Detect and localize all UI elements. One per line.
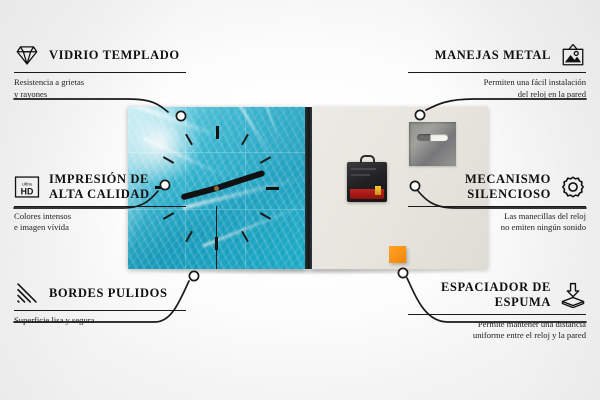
feature-title: VIDRIO TEMPLADO bbox=[49, 48, 180, 63]
feature-title: MECANISMO SILENCIOSO bbox=[408, 172, 551, 202]
divider bbox=[14, 206, 186, 207]
foam-spacer-icon bbox=[560, 282, 586, 308]
feature-desc: Permite mantener una distancia uniforme … bbox=[408, 319, 586, 342]
feature-manejas-metal: MANEJAS METAL Permiten una fácil instala… bbox=[408, 42, 586, 100]
picture-frame-icon bbox=[560, 42, 586, 68]
divider bbox=[408, 314, 586, 315]
gear-icon bbox=[560, 174, 586, 200]
feature-desc: Resistencia a grietas y rayones bbox=[14, 77, 186, 100]
feature-desc: Las manecillas del reloj no emiten ningú… bbox=[408, 211, 586, 234]
feature-vidrio-templado: VIDRIO TEMPLADO Resistencia a grietas y … bbox=[14, 42, 186, 100]
ultra-hd-icon: ultra HD bbox=[14, 174, 40, 200]
clock-edge bbox=[305, 107, 312, 269]
feature-title: MANEJAS METAL bbox=[435, 48, 551, 63]
polished-edges-icon bbox=[14, 280, 40, 306]
metal-hanger-plate bbox=[409, 122, 456, 166]
feature-title: BORDES PULIDOS bbox=[49, 286, 168, 301]
quartz-movement bbox=[347, 162, 387, 202]
feature-desc: Colores intensos e imagen vívida bbox=[14, 211, 186, 234]
feature-bordes-pulidos: BORDES PULIDOS Superficie lisa y segura bbox=[14, 280, 186, 327]
feature-desc: Superficie lisa y segura bbox=[14, 315, 186, 327]
divider bbox=[408, 206, 586, 207]
feature-impresion-alta-calidad: ultra HD IMPRESIÓN DE ALTA CALIDAD Color… bbox=[14, 172, 186, 234]
feature-title: IMPRESIÓN DE ALTA CALIDAD bbox=[49, 172, 186, 202]
svg-text:HD: HD bbox=[21, 186, 34, 196]
clock-second-hand bbox=[216, 206, 217, 269]
diamond-icon bbox=[14, 42, 40, 68]
feature-mecanismo-silencioso: MECANISMO SILENCIOSO Las manecillas del … bbox=[408, 172, 586, 234]
feature-title: ESPACIADOR DE ESPUMA bbox=[408, 280, 551, 310]
feature-desc: Permiten una fácil instalación del reloj… bbox=[408, 77, 586, 100]
clock-hub bbox=[214, 186, 219, 191]
product-infographic: VIDRIO TEMPLADO Resistencia a grietas y … bbox=[0, 0, 600, 400]
divider bbox=[408, 72, 586, 73]
feature-espaciador-espuma: ESPACIADOR DE ESPUMA Permite mantener un… bbox=[408, 280, 586, 342]
divider bbox=[14, 72, 186, 73]
divider bbox=[14, 310, 186, 311]
foam-spacer bbox=[389, 246, 406, 263]
